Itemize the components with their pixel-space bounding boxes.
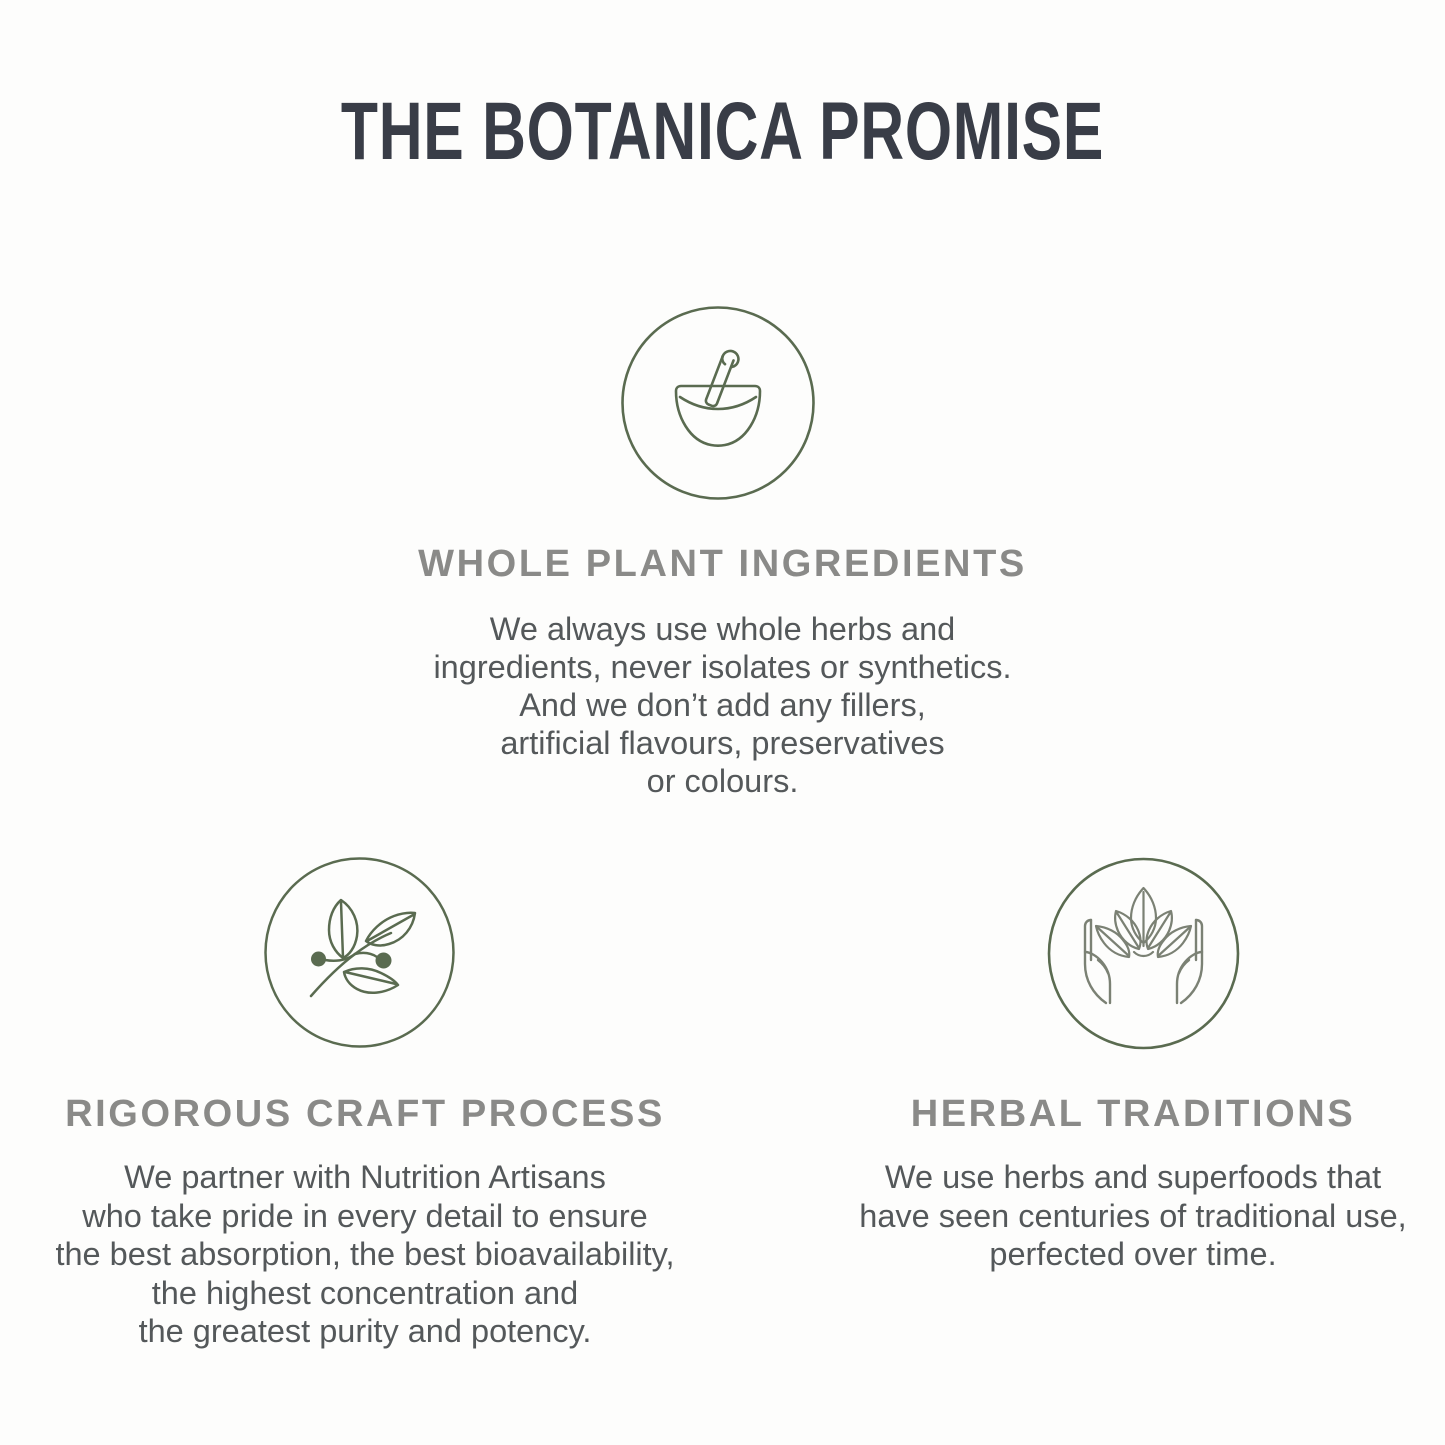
body-line: the greatest purity and potency. xyxy=(6,1312,724,1351)
body-line: We always use whole herbs and xyxy=(222,610,1223,648)
body-line: the highest concentration and xyxy=(6,1274,724,1313)
body-line: And we don’t add any fillers, xyxy=(222,686,1223,724)
body-line: ingredients, never isolates or synthetic… xyxy=(222,648,1223,686)
feature-heading-herbal-traditions: HERBAL TRADITIONS xyxy=(828,1092,1438,1136)
promise-section: THE BOTANICA PROMISE WHOLE PLANT INGREDI… xyxy=(0,0,1445,1445)
body-line: We partner with Nutrition Artisans xyxy=(6,1158,724,1197)
body-line: have seen centuries of traditional use, xyxy=(828,1197,1438,1236)
feature-rigorous-craft-process: RIGOROUS CRAFT PROCESS We partner with N… xyxy=(6,1092,724,1351)
feature-heading-whole-plant: WHOLE PLANT INGREDIENTS xyxy=(222,542,1223,586)
mortar-and-pestle-icon xyxy=(620,305,816,501)
feature-heading-rigorous-craft: RIGOROUS CRAFT PROCESS xyxy=(6,1092,724,1136)
hands-holding-plant-icon xyxy=(1046,856,1241,1051)
page-title: THE BOTANICA PROMISE xyxy=(188,84,1257,180)
feature-body-rigorous-craft: We partner with Nutrition Artisans who t… xyxy=(6,1158,724,1351)
body-line: We use herbs and superfoods that xyxy=(828,1158,1438,1197)
body-line: the best absorption, the best bioavailab… xyxy=(6,1235,724,1274)
feature-herbal-traditions: HERBAL TRADITIONS We use herbs and super… xyxy=(828,1092,1438,1274)
feature-body-whole-plant: We always use whole herbs and ingredient… xyxy=(222,610,1223,800)
body-line: artificial flavours, preservatives xyxy=(222,724,1223,762)
body-line: who take pride in every detail to ensure xyxy=(6,1197,724,1236)
body-line: perfected over time. xyxy=(828,1235,1438,1274)
feature-body-herbal-traditions: We use herbs and superfoods that have se… xyxy=(828,1158,1438,1274)
leaf-branch-icon xyxy=(263,856,456,1049)
feature-whole-plant-ingredients: WHOLE PLANT INGREDIENTS We always use wh… xyxy=(222,542,1223,800)
body-line: or colours. xyxy=(222,762,1223,800)
